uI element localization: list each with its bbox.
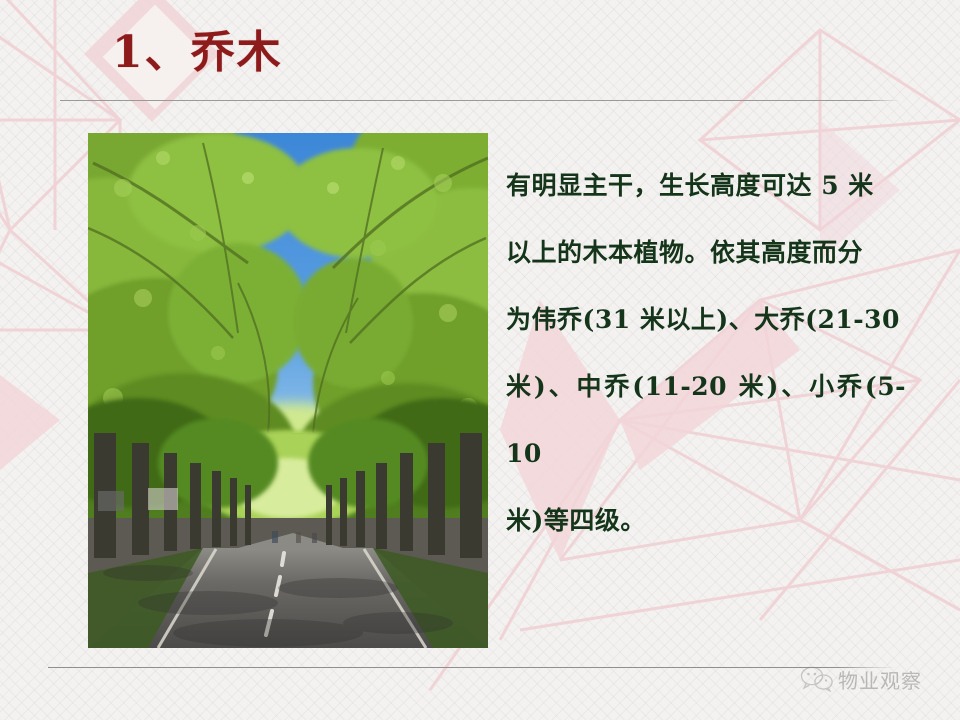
body-line-1: 有明显主干，生长高度可达 5 米	[506, 152, 906, 219]
page-title: 1、乔木	[112, 24, 283, 82]
watermark-label: 物业观察	[838, 665, 922, 694]
footer-divider	[48, 667, 896, 668]
body-line-5: 米)等四级。	[506, 487, 906, 554]
wechat-icon	[800, 666, 834, 692]
body-paragraph: 有明显主干，生长高度可达 5 米 以上的木本植物。依其高度而分 为伟乔(31 米…	[506, 152, 906, 554]
body-line-3: 为伟乔(31 米以上)、大乔(21-30	[506, 286, 906, 353]
slide-canvas: 1、乔木	[0, 0, 960, 720]
header-divider	[60, 100, 900, 101]
watermark: 物业观察	[800, 659, 950, 699]
body-line-4: 米)、中乔(11-20 米)、小乔(5-10	[506, 353, 906, 487]
body-line-2: 以上的木本植物。依其高度而分	[506, 219, 906, 286]
tree-avenue-photo	[88, 133, 488, 648]
